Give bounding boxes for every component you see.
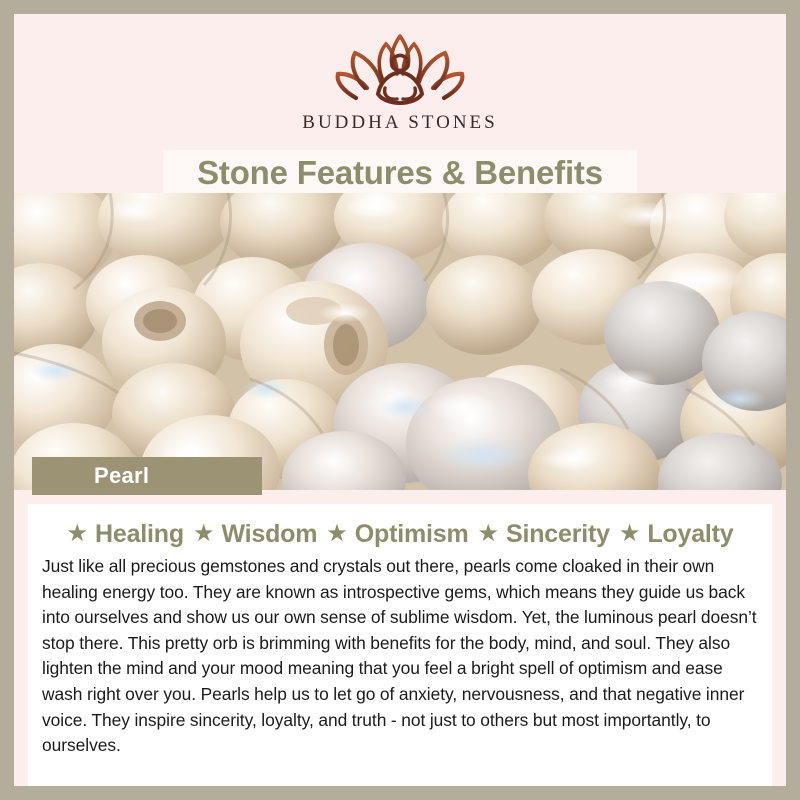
- stone-name-bar: Pearl: [32, 457, 262, 495]
- lotus-meditation-figure-icon: [325, 28, 475, 110]
- benefit-keyword-optimism: Optimism: [355, 520, 469, 549]
- star-icon: ★: [193, 522, 215, 546]
- benefit-keyword-wisdom: Wisdom: [221, 520, 317, 549]
- benefit-keyword-sincerity: Sincerity: [506, 520, 610, 549]
- description-card: ★ Healing ★ Wisdom ★ Optimism ★ Sincerit…: [28, 504, 772, 786]
- star-icon: ★: [619, 522, 641, 546]
- benefit-keyword-loyalty: Loyalty: [647, 520, 733, 549]
- stone-name-label: Pearl: [94, 463, 149, 489]
- poster-page: BUDDHA STONES Stone Features & Benefits: [14, 14, 786, 786]
- star-icon: ★: [326, 522, 348, 546]
- brand-logo-block: BUDDHA STONES: [14, 14, 786, 146]
- stone-photo: [14, 193, 786, 490]
- infographic-poster: BUDDHA STONES Stone Features & Benefits: [0, 0, 800, 800]
- star-icon: ★: [478, 522, 500, 546]
- page-title: Stone Features & Benefits: [197, 154, 603, 192]
- brand-wordmark: BUDDHA STONES: [302, 112, 497, 134]
- star-icon: ★: [67, 522, 89, 546]
- benefit-keywords-row: ★ Healing ★ Wisdom ★ Optimism ★ Sincerit…: [42, 516, 758, 552]
- stone-description-paragraph: Just like all precious gemstones and cry…: [42, 554, 758, 759]
- benefit-keyword-healing: Healing: [95, 520, 184, 549]
- pearls-photo-illustration: [14, 193, 786, 490]
